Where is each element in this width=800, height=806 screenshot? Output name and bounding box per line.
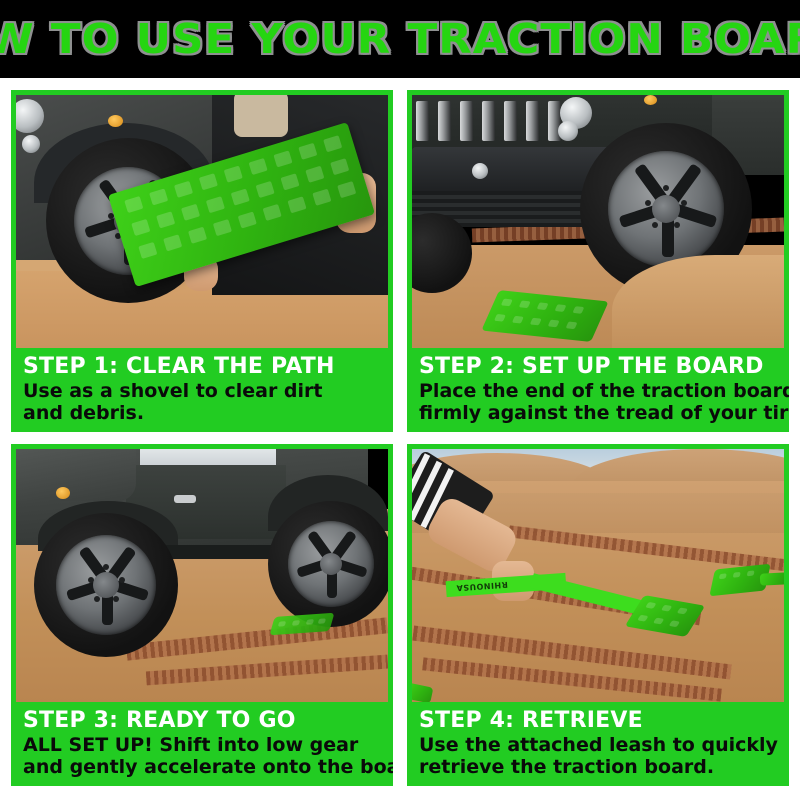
- step-2-caption: STEP 2: SET UP THE BOARD Place the end o…: [407, 348, 789, 432]
- step-3-body: ALL SET UP! Shift into low gear and gent…: [23, 734, 383, 778]
- step-1-body-line-1: Use as a shovel to clear dirt: [23, 380, 383, 402]
- step-2-body-line-2: firmly against the tread of your tire.: [419, 402, 779, 424]
- step-2-body-line-1: Place the end of the traction board: [419, 380, 779, 402]
- tow-hook-icon: [472, 163, 488, 179]
- step-4-heading: STEP 4: RETRIEVE: [419, 708, 779, 733]
- step-1-photo: [16, 95, 388, 348]
- step-panel-4: RHINOUSA: [407, 444, 789, 786]
- step-4-body-line-1: Use the attached leash to quickly: [419, 734, 779, 756]
- step-2-heading: STEP 2: SET UP THE BOARD: [419, 354, 779, 379]
- step-3-photo: [16, 449, 388, 702]
- step-4-caption: STEP 4: RETRIEVE Use the attached leash …: [407, 702, 789, 786]
- page-title: HOW TO USE YOUR TRACTION BOARDS: [0, 15, 800, 63]
- step-2-photo: [412, 95, 784, 348]
- step-3-body-line-1: ALL SET UP! Shift into low gear: [23, 734, 383, 756]
- step-4-body-line-2: retrieve the traction board.: [419, 756, 779, 778]
- strap-brand-label: RHINOUSA: [456, 580, 508, 593]
- side-step: [156, 545, 286, 559]
- infographic-root: HOW TO USE YOUR TRACTION BOARDS: [0, 0, 800, 800]
- step-2-body: Place the end of the traction board firm…: [419, 380, 779, 424]
- fog-light-icon: [22, 135, 40, 153]
- front-wheel-rim: [56, 535, 156, 635]
- traction-board-third: [760, 572, 784, 585]
- step-1-body-line-2: and debris.: [23, 402, 383, 424]
- step-4-photo: RHINOUSA: [412, 449, 784, 702]
- step-panel-2: STEP 2: SET UP THE BOARD Place the end o…: [407, 90, 789, 432]
- step-4-body: Use the attached leash to quickly retrie…: [419, 734, 779, 778]
- step-1-body: Use as a shovel to clear dirt and debris…: [23, 380, 383, 424]
- step-panel-1: STEP 1: CLEAR THE PATH Use as a shovel t…: [11, 90, 393, 432]
- steps-grid: STEP 1: CLEAR THE PATH Use as a shovel t…: [0, 78, 800, 806]
- step-1-heading: STEP 1: CLEAR THE PATH: [23, 354, 383, 379]
- step-3-heading: STEP 3: READY TO GO: [23, 708, 383, 733]
- turn-signal-icon: [108, 115, 123, 127]
- step-1-caption: STEP 1: CLEAR THE PATH Use as a shovel t…: [11, 348, 393, 432]
- turn-signal-icon: [644, 95, 657, 105]
- wheel-rim: [608, 151, 724, 267]
- step-panel-3: STEP 3: READY TO GO ALL SET UP! Shift in…: [11, 444, 393, 786]
- step-3-caption: STEP 3: READY TO GO ALL SET UP! Shift in…: [11, 702, 393, 786]
- step-3-body-line-2: and gently accelerate onto the board.: [23, 756, 383, 778]
- hood: [16, 449, 136, 501]
- person-shoulder: [234, 95, 288, 137]
- turn-signal-icon: [56, 487, 70, 499]
- fog-light-icon: [558, 121, 578, 141]
- rear-wheel-rim: [288, 521, 374, 607]
- header-bar: HOW TO USE YOUR TRACTION BOARDS: [0, 0, 800, 78]
